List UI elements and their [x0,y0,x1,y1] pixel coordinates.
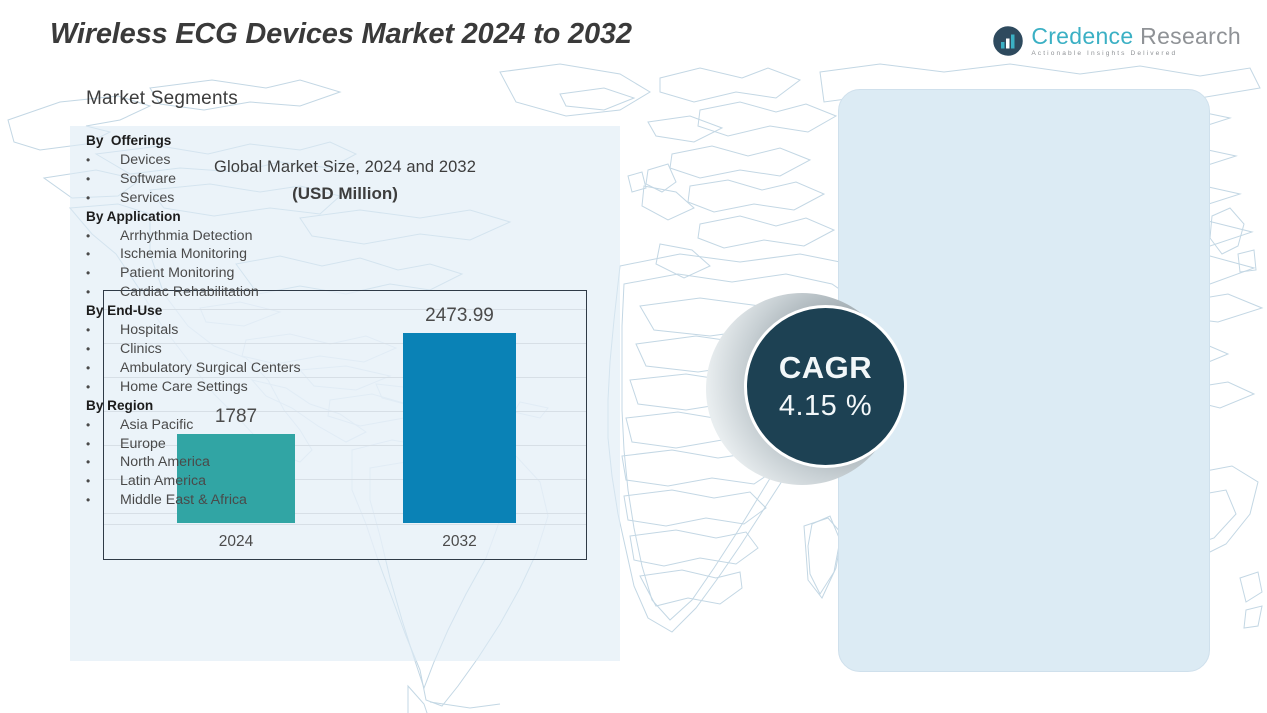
brand-name: Credence Research [1031,25,1241,48]
infographic-page: Wireless ECG Devices Market 2024 to 2032… [0,0,1267,713]
bullet-icon: • [86,416,120,435]
segment-list-item: •North America [86,453,386,472]
brand-name-part1: Credence [1031,23,1133,49]
segment-item-label: Patient Monitoring [120,264,234,283]
bar-label-2024: 2024 [177,533,295,551]
segment-group-title: By Region [86,397,386,416]
segment-item-label: Arrhythmia Detection [120,227,252,246]
bullet-icon: • [86,283,120,302]
bullet-icon: • [86,378,120,397]
segment-list-item: •Services [86,189,386,208]
segment-list-item: •Latin America [86,472,386,491]
segment-item-label: North America [120,453,210,472]
segment-list-item: •Clinics [86,340,386,359]
bullet-icon: • [86,189,120,208]
segment-list-item: •Patient Monitoring [86,264,386,283]
bullet-icon: • [86,491,120,510]
brand-tagline: Actionable Insights Delivered [1031,51,1241,58]
segment-list-item: •Ischemia Monitoring [86,245,386,264]
bar-label-2032: 2032 [403,533,516,551]
segment-item-label: Services [120,189,174,208]
segment-item-label: Software [120,170,176,189]
cagr-value: 4.15 % [779,392,872,421]
segment-item-label: Hospitals [120,321,178,340]
segment-item-label: Middle East & Africa [120,491,247,510]
segment-group-title: By Offerings [86,132,386,151]
segment-list-item: •Middle East & Africa [86,491,386,510]
bar-value-2032: 2473.99 [394,305,525,327]
segment-item-label: Latin America [120,472,206,491]
segment-group-title: By Application [86,208,386,227]
page-title: Wireless ECG Devices Market 2024 to 2032 [50,18,632,51]
segment-list-item: •Asia Pacific [86,416,386,435]
segment-item-label: Asia Pacific [120,416,193,435]
segment-list-item: •Hospitals [86,321,386,340]
brand-name-part2: Research [1140,23,1241,49]
segment-item-label: Europe [120,435,166,454]
brand-logo-text: Credence Research Actionable Insights De… [1031,25,1241,58]
segment-list-item: •Software [86,170,386,189]
segment-item-label: Ischemia Monitoring [120,245,247,264]
bullet-icon: • [86,245,120,264]
segment-list-item: •Ambulatory Surgical Centers [86,359,386,378]
bullet-icon: • [86,264,120,283]
segment-item-label: Ambulatory Surgical Centers [120,359,301,378]
bullet-icon: • [86,453,120,472]
segment-item-label: Home Care Settings [120,378,248,397]
segment-list-item: •Cardiac Rehabilitation [86,283,386,302]
bullet-icon: • [86,151,120,170]
segment-item-label: Devices [120,151,170,170]
cagr-label: CAGR [779,352,872,383]
market-segments-title: Market Segments [86,88,238,110]
bullet-icon: • [86,170,120,189]
market-segments-list: By Offerings•Devices•Software•ServicesBy… [86,132,386,510]
segment-group-title: By End-Use [86,302,386,321]
bar-chart-circle-icon [993,26,1023,56]
bullet-icon: • [86,321,120,340]
segment-list-item: •Europe [86,435,386,454]
bullet-icon: • [86,227,120,246]
segment-item-label: Cardiac Rehabilitation [120,283,259,302]
bullet-icon: • [86,435,120,454]
bar-2032 [403,333,516,523]
segment-list-item: •Arrhythmia Detection [86,227,386,246]
bullet-icon: • [86,472,120,491]
segment-item-label: Clinics [120,340,162,359]
segment-list-item: •Home Care Settings [86,378,386,397]
bullet-icon: • [86,340,120,359]
cagr-badge: CAGR 4.15 % [744,305,907,468]
brand-logo[interactable]: Credence Research Actionable Insights De… [993,25,1241,58]
bullet-icon: • [86,359,120,378]
gridline-baseline [104,524,586,525]
segment-list-item: •Devices [86,151,386,170]
